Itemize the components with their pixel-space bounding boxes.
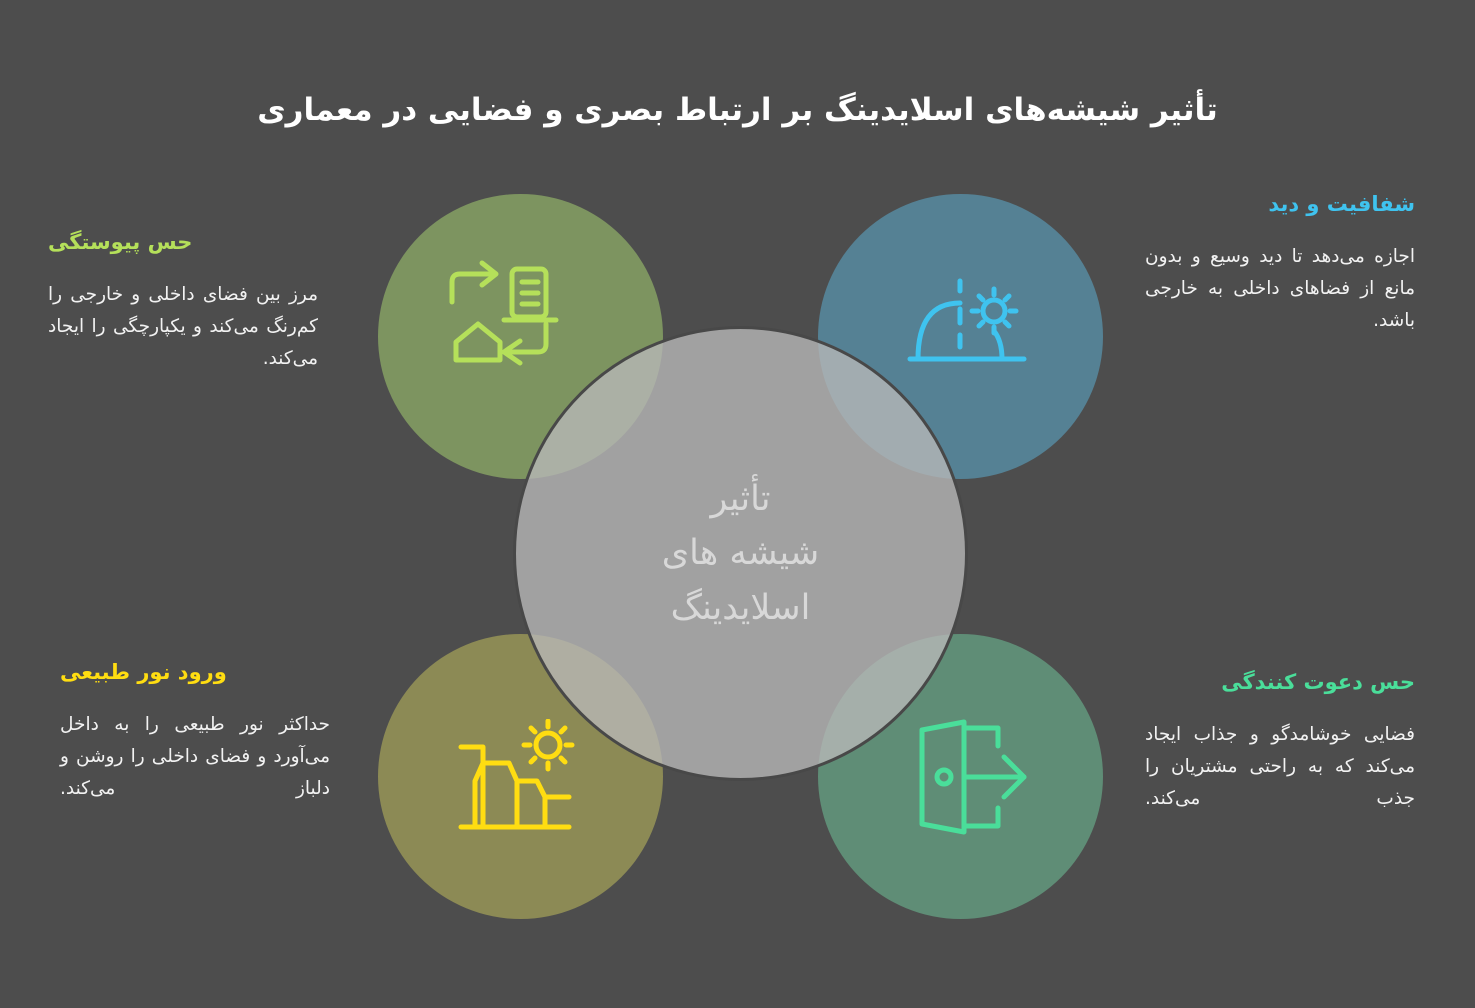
block-transparency: شفافیت و دید اجازه می‌دهد تا دید وسیع و …	[1145, 190, 1415, 337]
center-line-2: شیشه های	[662, 526, 820, 580]
block-daylight-body: حداکثر نور طبیعی را به داخل می‌آورد و فض…	[60, 709, 330, 804]
page-title: تأثیر شیشه‌های اسلایدینگ بر ارتباط بصری …	[0, 88, 1475, 133]
block-continuity: حس پیوستگی مرز بین فضای داخلی و خارجی را…	[48, 228, 318, 375]
block-inviting: حس دعوت کنندگی فضایی خوشامدگو و جذاب ایج…	[1145, 668, 1415, 815]
block-transparency-body: اجازه می‌دهد تا دید وسیع و بدون مانع از …	[1145, 241, 1415, 336]
venn-diagram: تأثیر شیشه های اسلایدینگ	[368, 186, 1112, 930]
center-line-3: اسلایدینگ	[671, 581, 811, 635]
block-transparency-heading: شفافیت و دید	[1145, 190, 1415, 219]
block-inviting-body: فضایی خوشامدگو و جذاب ایجاد می‌کند که به…	[1145, 719, 1415, 814]
block-daylight-heading: ورود نور طبیعی	[60, 658, 330, 687]
block-continuity-body: مرز بین فضای داخلی و خارجی را کم‌رنگ می‌…	[48, 279, 318, 374]
block-inviting-heading: حس دعوت کنندگی	[1145, 668, 1415, 697]
center-line-1: تأثیر	[710, 472, 770, 526]
block-continuity-heading: حس پیوستگی	[48, 228, 318, 257]
block-daylight: ورود نور طبیعی حداکثر نور طبیعی را به دا…	[60, 658, 330, 805]
center-overlap-circle[interactable]: تأثیر شیشه های اسلایدینگ	[513, 326, 968, 781]
